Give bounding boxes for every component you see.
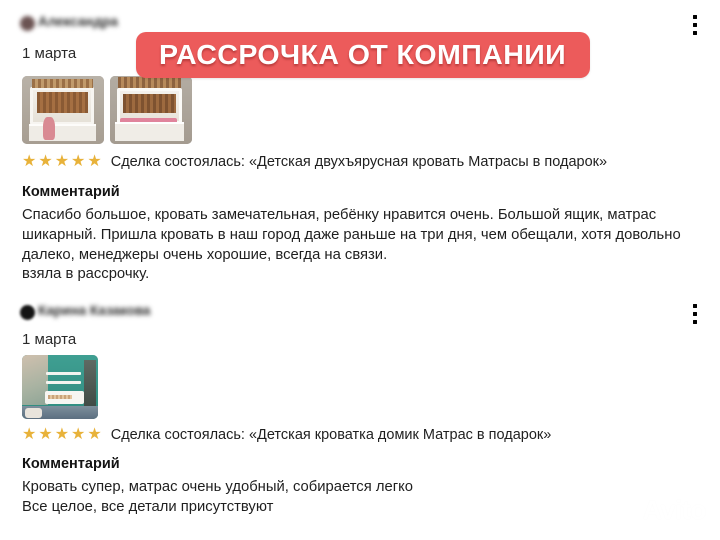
rating-stars: ★ ★ ★ ★ ★: [22, 427, 102, 443]
review-photo-thumbnail[interactable]: [22, 76, 104, 144]
star-filled-icon: ★: [87, 154, 101, 170]
reviews-page: РАССРОЧКА ОТ КОМПАНИИ Александра 1 марта: [0, 0, 720, 540]
star-filled-icon: ★: [38, 427, 52, 443]
deal-status-text: Сделка состоялась: «Детская кроватка дом…: [111, 427, 552, 443]
more-options-vertical-icon[interactable]: [693, 304, 697, 324]
review-date: 1 марта: [22, 331, 76, 348]
rating-row: ★ ★ ★ ★ ★ Сделка состоялась: «Детская кр…: [22, 427, 551, 443]
review-header: Карина Казакова: [0, 303, 720, 325]
deal-status-text: Сделка состоялась: «Детская двухъярусная…: [111, 154, 607, 170]
review-photo-thumbnail[interactable]: [110, 76, 192, 144]
rating-row: ★ ★ ★ ★ ★ Сделка состоялась: «Детская дв…: [22, 154, 607, 170]
comment-body: Спасибо большое, кровать замечательная, …: [22, 206, 682, 285]
user-avatar-icon: [20, 305, 35, 320]
star-filled-icon: ★: [55, 154, 69, 170]
promo-banner-text: РАССРОЧКА ОТ КОМПАНИИ: [159, 39, 566, 71]
review-photo-thumbnail[interactable]: [22, 355, 98, 419]
star-filled-icon: ★: [71, 427, 85, 443]
star-filled-icon: ★: [71, 154, 85, 170]
star-filled-icon: ★: [22, 427, 36, 443]
review-photo-strip: [22, 76, 192, 144]
review-photo-strip: [22, 355, 98, 419]
review-date: 1 марта: [22, 45, 76, 62]
comment-body: Кровать супер, матрас очень удобный, соб…: [22, 478, 682, 518]
star-filled-icon: ★: [38, 154, 52, 170]
promo-banner: РАССРОЧКА ОТ КОМПАНИИ: [136, 32, 590, 78]
review-author-name: Карина Казакова: [38, 303, 150, 318]
rating-stars: ★ ★ ★ ★ ★: [22, 154, 102, 170]
star-filled-icon: ★: [22, 154, 36, 170]
comment-label: Комментарий: [22, 456, 120, 472]
star-filled-icon: ★: [55, 427, 69, 443]
review-author-name: Александра: [38, 14, 118, 29]
comment-label: Комментарий: [22, 184, 120, 200]
more-options-vertical-icon[interactable]: [693, 15, 697, 35]
star-filled-icon: ★: [87, 427, 101, 443]
user-avatar-icon: [20, 16, 35, 31]
review-item: Карина Казакова 1 марта ★ ★ ★: [0, 303, 720, 325]
